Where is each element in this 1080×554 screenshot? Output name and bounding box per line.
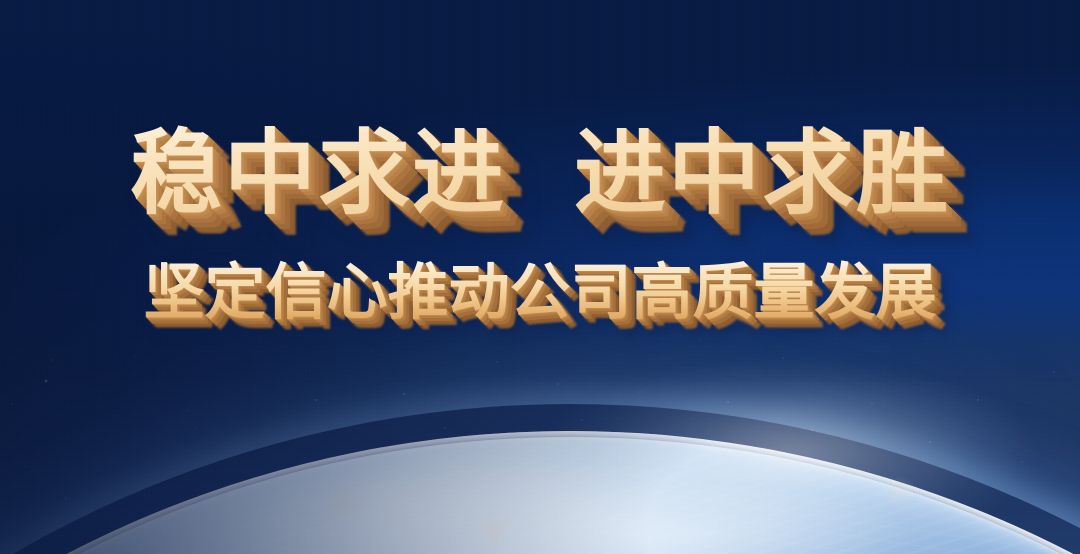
banner-headline: 稳中求进 进中求胜 xyxy=(0,124,1080,224)
banner-subheadline: 坚定信心推动公司高质量发展 xyxy=(0,258,1080,328)
promo-banner: 稳中求进 进中求胜 坚定信心推动公司高质量发展 xyxy=(0,0,1080,554)
